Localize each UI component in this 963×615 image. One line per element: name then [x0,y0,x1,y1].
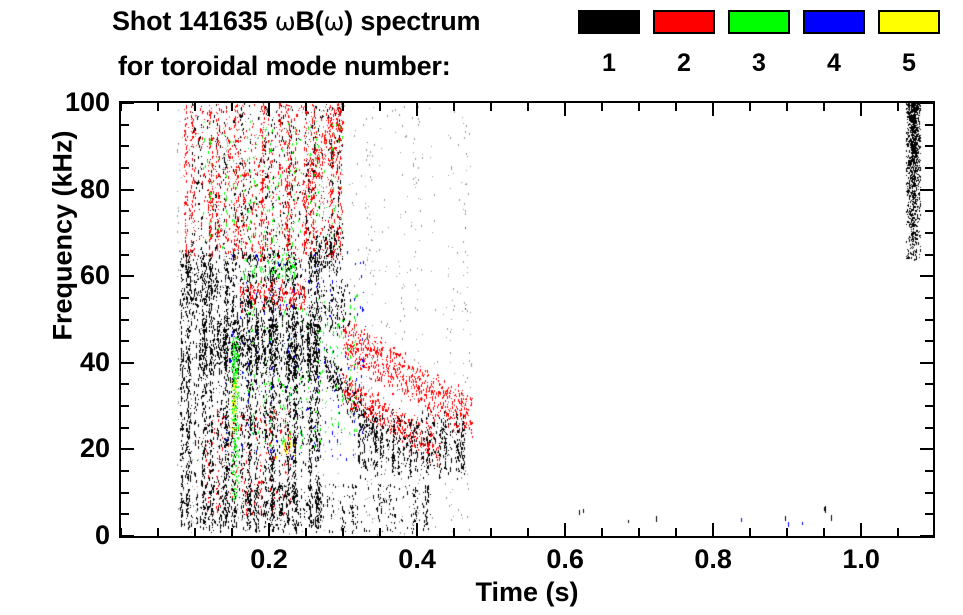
y-tick [121,319,129,321]
y-tick [121,362,134,364]
x-tick [564,523,566,536]
x-tick [305,528,307,536]
x-tick [194,528,196,536]
y-tick [121,383,129,385]
x-tick [453,528,455,536]
y-tick-label: 0 [10,522,110,549]
x-tick [675,103,677,111]
y-tick [121,167,129,169]
y-tick [121,448,134,450]
x-tick [231,528,233,536]
y-tick-label: 20 [10,435,110,462]
y-tick [121,275,134,277]
x-tick [379,103,381,111]
x-tick [490,103,492,111]
legend-item-mode-1: 1 [578,10,642,76]
x-tick [786,103,788,111]
y-tick [920,448,933,450]
y-tick [121,492,129,494]
y-tick [925,470,933,472]
spectrogram-figure: Shot 141635 ωB(ω) spectrum for toroidal … [0,0,963,615]
omega-symbol-2: ω [324,7,345,36]
y-tick [925,167,933,169]
x-tick [527,103,529,111]
x-tick [749,103,751,111]
x-tick [157,528,159,536]
y-tick [121,535,134,537]
legend-label-mode-4: 4 [801,51,867,76]
x-tick [897,103,899,111]
x-tick [823,103,825,111]
y-tick [121,124,129,126]
x-tick-label: 0.4 [377,546,457,573]
omega-symbol-1: ω [275,7,296,36]
legend-item-mode-2: 2 [653,10,717,76]
y-tick [121,297,129,299]
y-tick [121,102,134,104]
x-tick [564,103,566,116]
figure-title-line-2: for toroidal mode number: [118,51,451,82]
legend-swatch-mode-4 [803,10,865,34]
legend-label-mode-2: 2 [651,51,717,76]
figure-title-line-1: Shot 141635 ωB(ω) spectrum [112,6,480,37]
x-tick [342,528,344,536]
y-tick [925,145,933,147]
spectrogram-canvas [121,103,933,536]
y-tick [925,405,933,407]
x-tick-label: 0.2 [229,546,309,573]
y-tick [121,340,129,342]
x-tick [268,523,270,536]
title-prefix: Shot 141635 [112,6,275,36]
x-tick [453,103,455,111]
x-tick [379,528,381,536]
y-tick [121,427,129,429]
y-tick [925,210,933,212]
legend-item-mode-5: 5 [878,10,942,76]
y-tick [121,189,134,191]
y-tick [121,405,129,407]
y-tick [920,102,933,104]
x-axis-title: Time (s) [119,577,935,608]
x-tick [712,523,714,536]
y-tick [925,232,933,234]
x-tick [638,103,640,111]
x-tick [897,528,899,536]
x-tick [638,528,640,536]
x-tick [490,528,492,536]
x-tick [120,528,122,536]
legend-swatch-mode-2 [653,10,715,34]
x-tick [157,103,159,111]
x-tick [860,523,862,536]
x-tick [342,103,344,111]
x-tick [749,528,751,536]
x-tick [786,528,788,536]
legend-item-mode-4: 4 [803,10,867,76]
x-tick [194,103,196,111]
y-tick [925,513,933,515]
y-tick [121,210,129,212]
x-tick-label: 1.0 [821,546,901,573]
legend-swatch-mode-5 [878,10,940,34]
plot-frame [119,101,935,538]
y-tick [925,492,933,494]
x-tick [860,103,862,116]
x-tick [231,103,233,111]
y-tick [121,254,129,256]
legend: 12345 [578,10,954,88]
y-tick [925,383,933,385]
x-tick-label: 0.6 [525,546,605,573]
y-tick [925,340,933,342]
x-tick [305,103,307,111]
x-axis-tick-labels: 0.20.40.60.81.0 [119,538,935,578]
legend-swatch-mode-3 [728,10,790,34]
x-tick [416,103,418,116]
y-tick [925,124,933,126]
x-tick [823,528,825,536]
legend-swatch-mode-1 [578,10,640,34]
legend-label-mode-5: 5 [876,51,942,76]
legend-label-mode-1: 1 [576,51,642,76]
y-axis-title: Frequency (kHz) [48,36,79,436]
y-tick [920,362,933,364]
y-tick [925,297,933,299]
y-tick [121,513,129,515]
y-tick [121,145,129,147]
x-tick [675,528,677,536]
x-tick [601,103,603,111]
y-tick [920,535,933,537]
y-tick [920,275,933,277]
x-tick [268,103,270,116]
y-tick [920,189,933,191]
y-tick [925,254,933,256]
y-tick [925,427,933,429]
x-tick [527,528,529,536]
x-tick [416,523,418,536]
x-tick [120,103,122,111]
x-tick-label: 0.8 [673,546,753,573]
title-mid: B( [295,6,323,36]
title-suffix: ) spectrum [344,6,480,36]
legend-item-mode-3: 3 [728,10,792,76]
x-tick [712,103,714,116]
y-tick [121,232,129,234]
legend-label-mode-3: 3 [726,51,792,76]
x-tick [601,528,603,536]
y-tick [121,470,129,472]
y-tick [925,319,933,321]
